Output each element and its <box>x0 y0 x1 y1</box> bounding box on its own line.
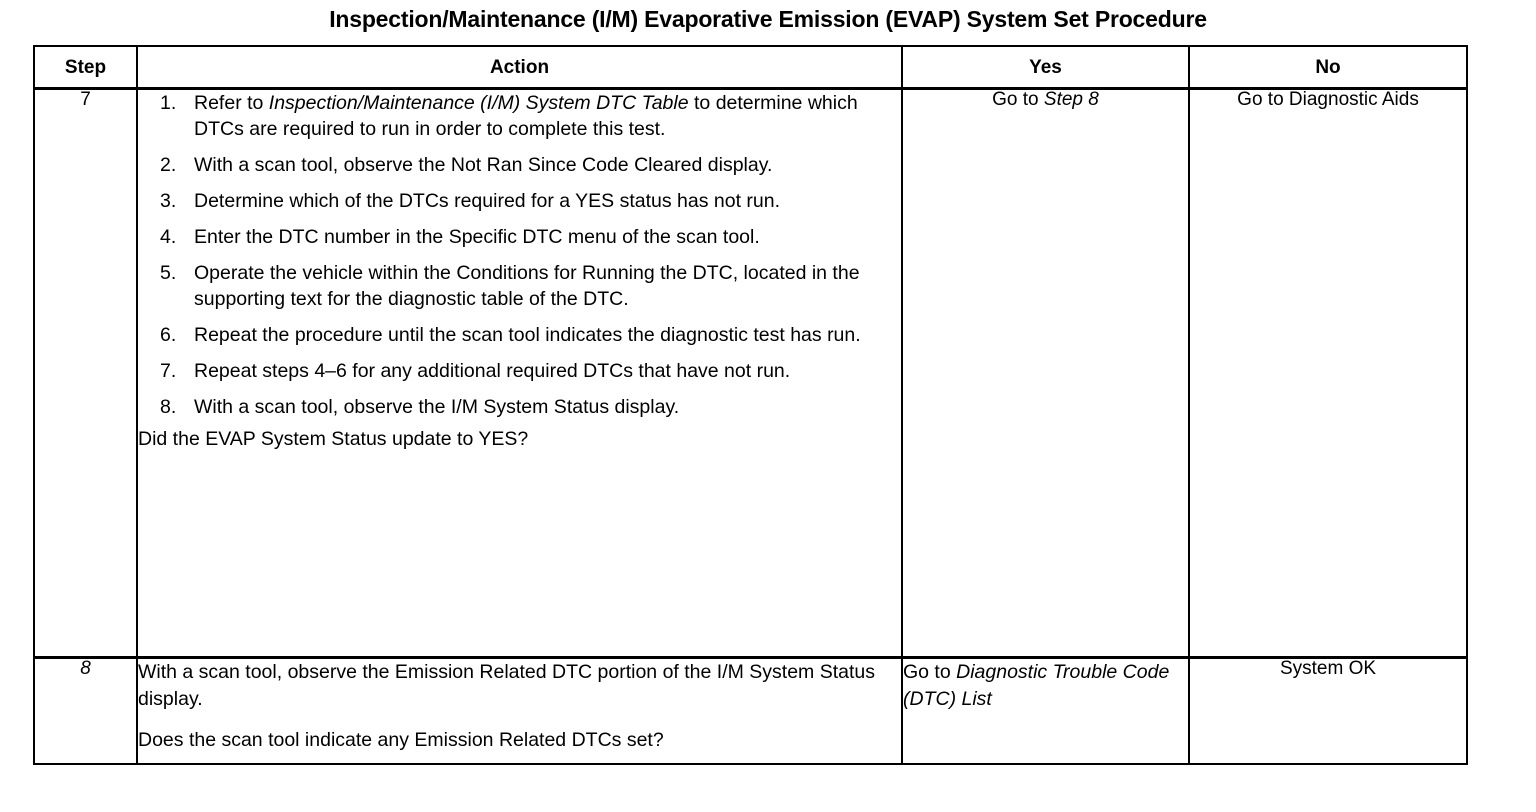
action-list-item-number: 3. <box>160 188 188 214</box>
page-title: Inspection/Maintenance (I/M) Evaporative… <box>0 6 1536 33</box>
no-branch-cell: Go to Diagnostic Aids <box>1189 89 1467 658</box>
action-list-item-text: Enter the DTC number in the Specific DTC… <box>194 224 901 250</box>
action-list-item-number: 5. <box>160 260 188 286</box>
text-run: System OK <box>1280 658 1376 679</box>
action-statement: With a scan tool, observe the Emission R… <box>138 659 901 713</box>
action-list-item: 4.Enter the DTC number in the Specific D… <box>138 224 901 250</box>
action-list-item: 7.Repeat steps 4–6 for any additional re… <box>138 358 901 384</box>
action-list-item-text: Refer to Inspection/Maintenance (I/M) Sy… <box>194 90 901 142</box>
text-run: Repeat steps 4–6 for any additional requ… <box>194 360 790 382</box>
italic-run: Inspection/Maintenance (I/M) System DTC … <box>269 92 689 114</box>
document-page: Inspection/Maintenance (I/M) Evaporative… <box>0 0 1536 812</box>
text-run: Go to <box>903 661 956 683</box>
action-question: Did the EVAP System Status update to YES… <box>138 426 901 452</box>
yes-branch-text: Go to Diagnostic Trouble Code (DTC) List <box>903 659 1188 713</box>
action-list-item-number: 6. <box>160 322 188 348</box>
text-run: Determine which of the DTCs required for… <box>194 190 780 212</box>
column-header-yes: Yes <box>902 46 1189 89</box>
action-list-item-number: 1. <box>160 90 188 116</box>
action-list-item: 5.Operate the vehicle within the Conditi… <box>138 260 901 312</box>
yes-branch-cell: Go to Step 8 <box>902 89 1189 658</box>
action-cell: With a scan tool, observe the Emission R… <box>137 658 902 765</box>
text-run: Repeat the procedure until the scan tool… <box>194 324 861 346</box>
action-list-item: 3.Determine which of the DTCs required f… <box>138 188 901 214</box>
action-list-item: 1.Refer to Inspection/Maintenance (I/M) … <box>138 90 901 142</box>
action-list-item-text: Repeat the procedure until the scan tool… <box>194 322 901 348</box>
italic-run: Step 8 <box>1044 89 1099 110</box>
no-branch-cell: System OK <box>1189 658 1467 765</box>
action-list-item: 6.Repeat the procedure until the scan to… <box>138 322 901 348</box>
step-number: 8 <box>80 658 91 679</box>
action-list-item: 2.With a scan tool, observe the Not Ran … <box>138 152 901 178</box>
column-header-action: Action <box>137 46 902 89</box>
table-header-row: Step Action Yes No <box>34 46 1467 89</box>
table-body: 7 1.Refer to Inspection/Maintenance (I/M… <box>34 89 1467 765</box>
text-run: With a scan tool, observe the I/M System… <box>194 396 679 418</box>
no-branch-text: System OK <box>1280 658 1376 679</box>
step-number-cell: 8 <box>34 658 137 765</box>
text-run: Go to Diagnostic Aids <box>1237 89 1419 110</box>
yes-branch-cell: Go to Diagnostic Trouble Code (DTC) List <box>902 658 1189 765</box>
text-run: Refer to <box>194 92 269 114</box>
column-header-step: Step <box>34 46 137 89</box>
table-header: Step Action Yes No <box>34 46 1467 89</box>
step-number: 7 <box>80 89 91 110</box>
action-list-item: 8.With a scan tool, observe the I/M Syst… <box>138 394 901 420</box>
no-branch-text: Go to Diagnostic Aids <box>1237 89 1419 110</box>
action-list-item-text: Determine which of the DTCs required for… <box>194 188 901 214</box>
action-list-item-text: With a scan tool, observe the Not Ran Si… <box>194 152 901 178</box>
action-list-item-number: 7. <box>160 358 188 384</box>
action-question: Does the scan tool indicate any Emission… <box>138 727 901 754</box>
action-list-item-number: 2. <box>160 152 188 178</box>
action-list-item-number: 4. <box>160 224 188 250</box>
action-list-item-text: Repeat steps 4–6 for any additional requ… <box>194 358 901 384</box>
action-step-list: 1.Refer to Inspection/Maintenance (I/M) … <box>138 90 901 420</box>
text-run: With a scan tool, observe the Not Ran Si… <box>194 154 772 176</box>
action-list-item-number: 8. <box>160 394 188 420</box>
table-row: 8 With a scan tool, observe the Emission… <box>34 658 1467 765</box>
action-cell: 1.Refer to Inspection/Maintenance (I/M) … <box>137 89 902 658</box>
text-run: Go to <box>992 89 1044 110</box>
diagnostic-procedure-table: Step Action Yes No 7 1.Refer to Inspecti… <box>33 45 1468 765</box>
column-header-no: No <box>1189 46 1467 89</box>
text-run: Operate the vehicle within the Condition… <box>194 262 860 310</box>
action-list-item-text: Operate the vehicle within the Condition… <box>194 260 901 312</box>
action-list-item-text: With a scan tool, observe the I/M System… <box>194 394 901 420</box>
text-run: Enter the DTC number in the Specific DTC… <box>194 226 760 248</box>
step-number-cell: 7 <box>34 89 137 658</box>
yes-branch-text: Go to Step 8 <box>992 89 1099 110</box>
table-row: 7 1.Refer to Inspection/Maintenance (I/M… <box>34 89 1467 658</box>
